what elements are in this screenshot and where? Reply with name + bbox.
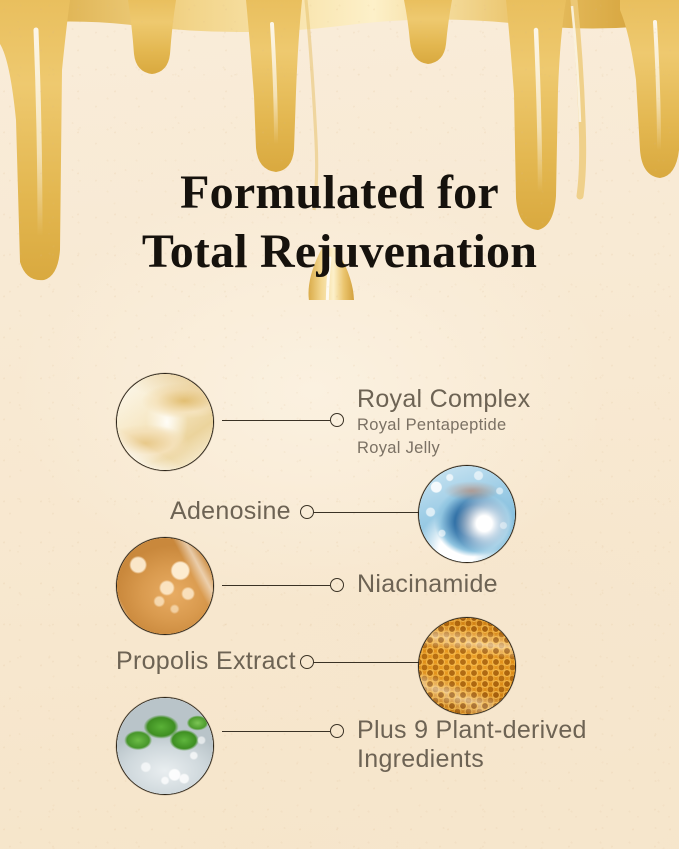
ingredient-thumbnail-adenosine — [418, 465, 516, 563]
page-title: Formulated for Total Rejuvenation — [0, 164, 679, 281]
honeycomb-image — [419, 618, 515, 714]
connector-royal-complex — [222, 413, 344, 427]
connector-dot-icon — [330, 724, 344, 738]
page-title-line-1: Formulated for — [180, 166, 499, 219]
connector-line — [313, 662, 421, 663]
connector-dot-icon — [300, 655, 314, 669]
amber-serum-bubbles-image — [117, 538, 213, 634]
ingredient-title-propolis-extract: Propolis Extract — [116, 647, 296, 676]
ingredient-title-plant-derived: Plus 9 Plant-derived Ingredients — [357, 716, 597, 774]
connector-dot-icon — [330, 578, 344, 592]
blue-water-droplet-image — [419, 466, 515, 562]
ingredient-thumbnail-royal-jelly — [116, 373, 214, 471]
ingredient-thumbnail-propolis-extract — [418, 617, 516, 715]
green-leaves-water-droplets-image — [117, 698, 213, 794]
connector-line — [222, 585, 330, 586]
connector-line — [222, 731, 330, 732]
ingredient-title-niacinamide: Niacinamide — [357, 570, 498, 599]
ingredient-thumbnail-niacinamide — [116, 537, 214, 635]
connector-line — [222, 420, 330, 421]
connector-line — [313, 512, 421, 513]
page-title-line-2: Total Rejuvenation — [0, 223, 679, 282]
ingredient-title-adenosine: Adenosine — [170, 497, 291, 526]
connector-dot-icon — [330, 413, 344, 427]
connector-dot-icon — [300, 505, 314, 519]
connector-adenosine — [300, 505, 422, 519]
ingredient-subitem-royal-pentapeptide: Royal Pentapeptide — [357, 414, 506, 436]
connector-propolis-extract — [300, 655, 422, 669]
ingredient-thumbnail-plant-derived — [116, 697, 214, 795]
connector-plant-derived — [222, 724, 344, 738]
ingredient-subitem-royal-jelly: Royal Jelly — [357, 437, 440, 459]
ingredient-title-royal-complex: Royal Complex — [357, 385, 530, 414]
royal-jelly-cream-swirl-image — [117, 374, 213, 470]
connector-niacinamide — [222, 578, 344, 592]
promo-graphic: Formulated for Total Rejuvenation Royal … — [0, 0, 679, 849]
